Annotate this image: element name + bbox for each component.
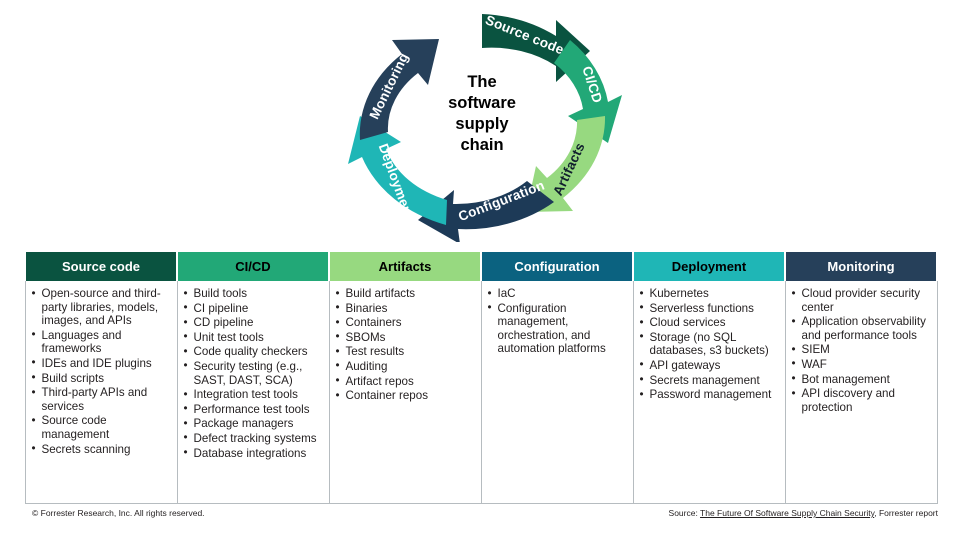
list-item: Binaries xyxy=(336,302,476,316)
list-item: Security testing (e.g., SAST, DAST, SCA) xyxy=(184,360,324,387)
list-item: IDEs and IDE plugins xyxy=(32,357,172,371)
list-item: Database integrations xyxy=(184,447,324,461)
cell-artifacts: Build artifactsBinariesContainersSBOMsTe… xyxy=(329,281,481,504)
item-list-cicd: Build toolsCI pipelineCD pipelineUnit te… xyxy=(184,287,324,460)
list-item: Integration test tools xyxy=(184,388,324,402)
list-item: Kubernetes xyxy=(640,287,780,301)
cell-monitoring: Cloud provider security centerApplicatio… xyxy=(785,281,937,504)
source-prefix: Source: xyxy=(669,508,701,518)
item-list-configuration: IaCConfiguration management, orchestrati… xyxy=(488,287,628,356)
list-item: Unit test tools xyxy=(184,331,324,345)
list-item: Cloud services xyxy=(640,316,780,330)
cell-configuration: IaCConfiguration management, orchestrati… xyxy=(481,281,633,504)
list-item: API discovery and protection xyxy=(792,387,932,414)
matrix-header-row: Source code CI/CD Artifacts Configuratio… xyxy=(25,252,937,281)
column-header-cicd: CI/CD xyxy=(177,252,329,281)
center-line-2: software xyxy=(418,93,546,114)
cell-cicd: Build toolsCI pipelineCD pipelineUnit te… xyxy=(177,281,329,504)
list-item: Secrets management xyxy=(640,374,780,388)
item-list-monitoring: Cloud provider security centerApplicatio… xyxy=(792,287,932,414)
source-citation: Source: The Future Of Software Supply Ch… xyxy=(669,508,938,518)
table-row: Open-source and third-party libraries, m… xyxy=(25,281,937,504)
center-line-3: supply xyxy=(418,114,546,135)
list-item: Password management xyxy=(640,388,780,402)
list-item: Code quality checkers xyxy=(184,345,324,359)
list-item: IaC xyxy=(488,287,628,301)
list-item: Serverless functions xyxy=(640,302,780,316)
list-item: Source code management xyxy=(32,414,172,441)
list-item: CD pipeline xyxy=(184,316,324,330)
list-item: CI pipeline xyxy=(184,302,324,316)
list-item: Container repos xyxy=(336,389,476,403)
list-item: Cloud provider security center xyxy=(792,287,932,314)
list-item: Defect tracking systems xyxy=(184,432,324,446)
column-header-deployment: Deployment xyxy=(633,252,785,281)
list-item: Build artifacts xyxy=(336,287,476,301)
item-list-deployment: KubernetesServerless functionsCloud serv… xyxy=(640,287,780,402)
center-line-1: The xyxy=(418,72,546,93)
supply-chain-cycle-diagram: Source code CI/CD Artifacts Configuratio… xyxy=(0,0,958,244)
matrix-body: Open-source and third-party libraries, m… xyxy=(25,281,937,504)
list-item: Secrets scanning xyxy=(32,443,172,457)
list-item: Configuration management, orchestration,… xyxy=(488,302,628,356)
matrix-table: Source code CI/CD Artifacts Configuratio… xyxy=(24,252,938,504)
list-item: Storage (no SQL databases, s3 buckets) xyxy=(640,331,780,358)
list-item: Package managers xyxy=(184,417,324,431)
supply-chain-matrix: Source code CI/CD Artifacts Configuratio… xyxy=(24,252,938,504)
list-item: Performance test tools xyxy=(184,403,324,417)
cell-deployment: KubernetesServerless functionsCloud serv… xyxy=(633,281,785,504)
list-item: Open-source and third-party libraries, m… xyxy=(32,287,172,328)
list-item: Test results xyxy=(336,345,476,359)
list-item: API gateways xyxy=(640,359,780,373)
item-list-artifacts: Build artifactsBinariesContainersSBOMsTe… xyxy=(336,287,476,403)
column-header-artifacts: Artifacts xyxy=(329,252,481,281)
slide-footer: © Forrester Research, Inc. All rights re… xyxy=(0,508,958,528)
list-item: Build scripts xyxy=(32,372,172,386)
list-item: SBOMs xyxy=(336,331,476,345)
column-header-monitoring: Monitoring xyxy=(785,252,937,281)
copyright-notice: © Forrester Research, Inc. All rights re… xyxy=(32,508,205,518)
list-item: Artifact repos xyxy=(336,375,476,389)
column-header-configuration: Configuration xyxy=(481,252,633,281)
column-header-source-code: Source code xyxy=(25,252,177,281)
source-suffix: , Forrester report xyxy=(874,508,938,518)
list-item: Third-party APIs and services xyxy=(32,386,172,413)
list-item: WAF xyxy=(792,358,932,372)
cycle-center-title: The software supply chain xyxy=(418,72,546,156)
list-item: Containers xyxy=(336,316,476,330)
list-item: SIEM xyxy=(792,343,932,357)
list-item: Application observability and performanc… xyxy=(792,315,932,342)
list-item: Auditing xyxy=(336,360,476,374)
item-list-source-code: Open-source and third-party libraries, m… xyxy=(32,287,172,456)
center-line-4: chain xyxy=(418,135,546,156)
list-item: Languages and frameworks xyxy=(32,329,172,356)
cell-source-code: Open-source and third-party libraries, m… xyxy=(25,281,177,504)
source-report-link[interactable]: The Future Of Software Supply Chain Secu… xyxy=(700,508,874,518)
list-item: Bot management xyxy=(792,373,932,387)
list-item: Build tools xyxy=(184,287,324,301)
